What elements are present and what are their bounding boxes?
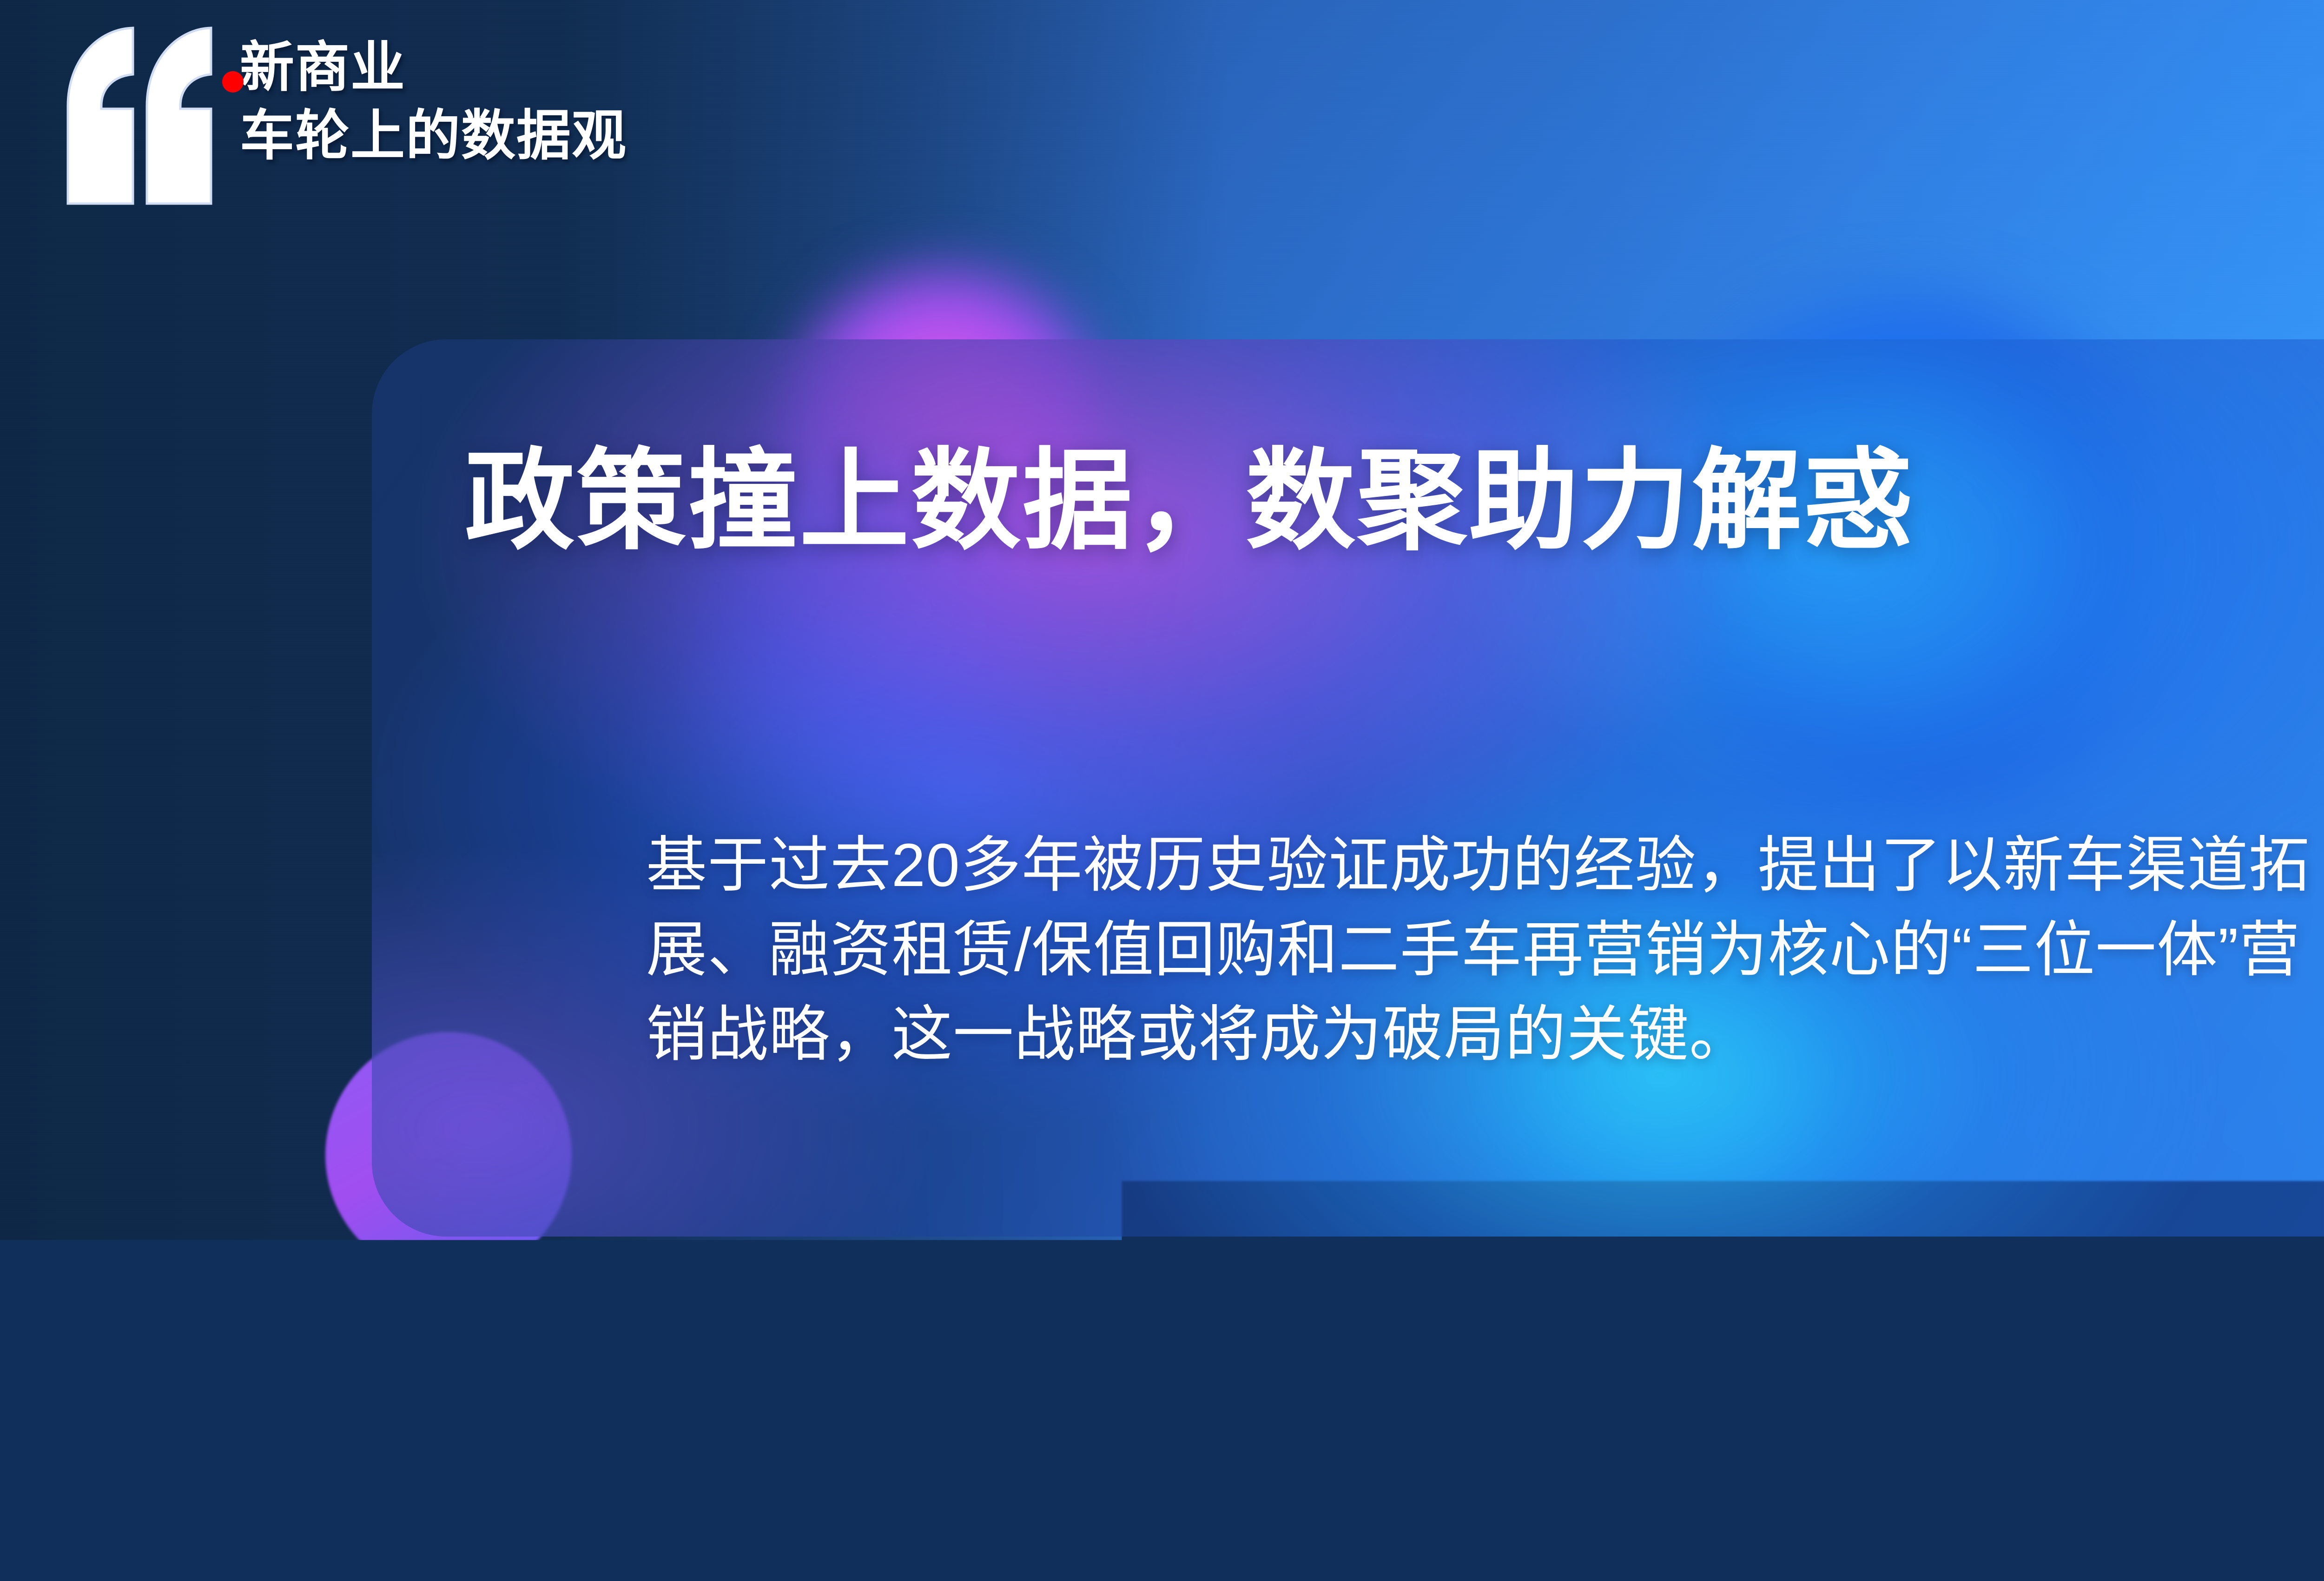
card-body-text: 基于过去20多年被历史验证成功的经验，提出了以新车渠道拓 展、融资租赁/保值回购… [646,823,2324,1077]
body-line: 展、融资租赁/保值回购和二手车再营销为核心的“三位一体”营 [646,907,2324,992]
footer-line-1: 《车轮上的数据观》栏目：面向行业管理者最关心的企业战略布局、技术发展、商业创新等… [69,1416,2324,1460]
quote-mark-icon [64,24,213,205]
footer-note: 《车轮上的数据观》栏目：面向行业管理者最关心的企业战略布局、技术发展、商业创新等… [69,1416,2324,1503]
body-line: 销战略，这一战略或将成为破局的关键。 [646,992,2324,1077]
brand-line-1-text: 新商业 [240,37,406,98]
brand-wordmark: 新商业 车轮上的数据观 [240,24,627,165]
body-line: 基于过去20多年被历史验证成功的经验，提出了以新车渠道拓 [646,823,2324,907]
page-title: 政策撞上数据，数聚助力解惑 [465,444,1915,558]
red-dot-icon [222,71,244,93]
brand-line-2: 车轮上的数据观 [240,106,627,165]
brand-logo: 新商业 车轮上的数据观 [64,24,627,205]
brand-line-1: 新商业 [240,38,627,96]
footer-line-2: 策依据，帮助企业在变革中把握时代的机遇! [69,1460,2324,1503]
